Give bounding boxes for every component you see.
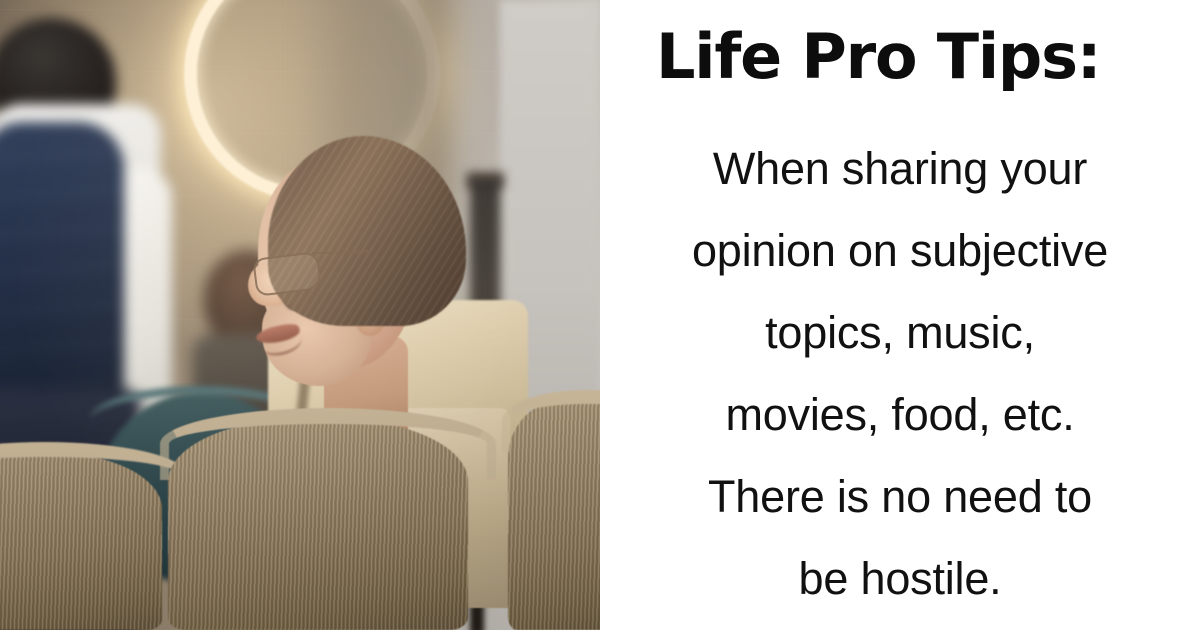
tip-line: When sharing your	[636, 128, 1164, 210]
cafe-photo	[0, 0, 600, 630]
tip-line: topics, music,	[636, 292, 1164, 374]
tip-line: opinion on subjective	[636, 210, 1164, 292]
text-panel: Life Pro Tips: When sharing your opinion…	[600, 0, 1200, 630]
page-title: Life Pro Tips:	[656, 22, 1100, 91]
subject-hair	[268, 136, 466, 326]
tip-line: be hostile.	[636, 538, 1164, 620]
glasses-temple-arm	[312, 250, 370, 254]
life-pro-tips-poster: Life Pro Tips: When sharing your opinion…	[0, 0, 1200, 630]
chair-center-rim	[160, 408, 496, 480]
tip-line: There is no need to	[636, 456, 1164, 538]
glasses-lens	[252, 251, 322, 297]
tip-body-text: When sharing your opinion on subjective …	[636, 128, 1164, 620]
tip-line: movies, food, etc.	[636, 374, 1164, 456]
subject-hair-strands	[268, 136, 466, 326]
